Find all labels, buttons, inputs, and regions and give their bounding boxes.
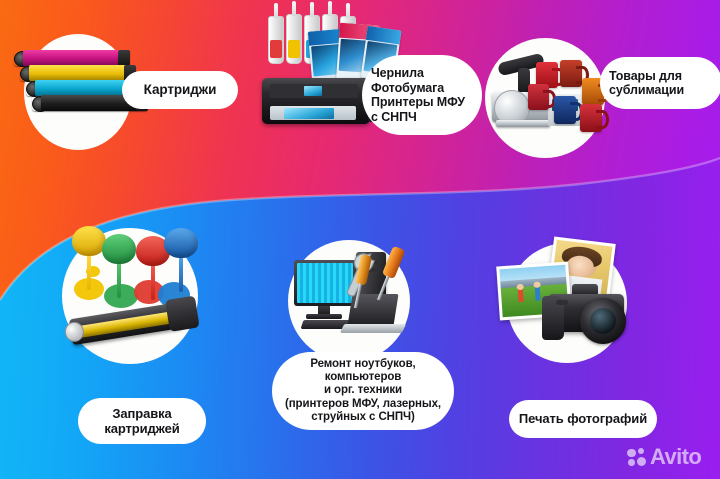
avito-wordmark: Avito xyxy=(650,446,701,468)
camera-photos-icon xyxy=(498,240,640,356)
service-pill-cartridge-refill[interactable]: Заправка картриджей xyxy=(78,398,206,444)
service-pill-sublimation-goods[interactable]: Товары для сублимации xyxy=(600,57,720,109)
service-label-cartridge-refill: Заправка картриджей xyxy=(104,406,179,436)
service-label-ink-paper-printers: Чернила Фотобумага Принтеры МФУ с СНПЧ xyxy=(371,66,465,124)
computer-repair-tools-icon xyxy=(286,244,426,360)
service-label-cartridges: Картриджи xyxy=(144,82,217,98)
service-pill-cartridges[interactable]: Картриджи xyxy=(122,71,238,109)
avito-watermark: Avito xyxy=(627,444,701,470)
promo-banner: Картриджи Чернила Фотобум xyxy=(0,0,720,479)
toner-cartridges-icon xyxy=(8,48,138,126)
service-label-sublimation-goods: Товары для сублимации xyxy=(609,69,684,98)
avito-logo-icon xyxy=(627,448,646,467)
service-pill-ink-paper-printers[interactable]: Чернила Фотобумага Принтеры МФУ с СНПЧ xyxy=(362,55,482,135)
service-label-device-repair: Ремонт ноутбуков, компьютеров и орг. тех… xyxy=(285,358,441,425)
service-pill-photo-printing[interactable]: Печать фотографий xyxy=(509,400,657,438)
service-pill-device-repair[interactable]: Ремонт ноутбуков, компьютеров и орг. тех… xyxy=(272,352,454,430)
toner-refill-paint-icon xyxy=(60,222,210,362)
service-label-photo-printing: Печать фотографий xyxy=(519,411,647,426)
mug-heat-press-icon xyxy=(492,52,610,144)
